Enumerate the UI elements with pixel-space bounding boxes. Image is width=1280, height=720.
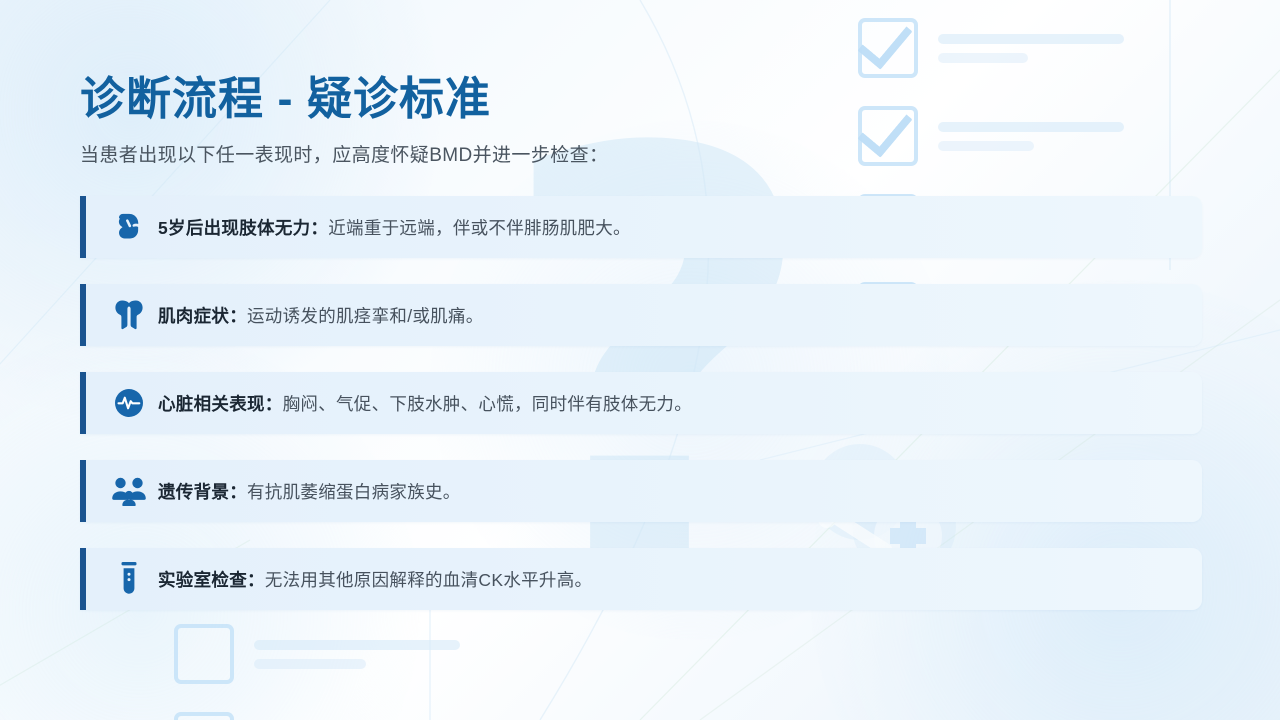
criterion-text: 遗传背景：有抗肌萎缩蛋白病家族史。 [158, 479, 461, 504]
criterion-text: 实验室检查：无法用其他原因解释的血清CK水平升高。 [158, 567, 592, 592]
checkbox-checked-icon [858, 18, 918, 78]
slide-canvas: ? [0, 0, 1280, 720]
checklist-watermark-row [858, 106, 1124, 166]
criterion-detail: 近端重于远端，伴或不伴腓肠肌肥大。 [328, 218, 631, 238]
checklist-text-lines [254, 640, 460, 669]
criterion-text: 心脏相关表现：胸闷、气促、下肢水肿、心慌，同时伴有肢体无力。 [158, 391, 692, 416]
checklist-line [938, 34, 1124, 44]
checklist-line [938, 122, 1124, 132]
criterion-detail: 有抗肌萎缩蛋白病家族史。 [247, 482, 461, 502]
page-subtitle: 当患者出现以下任一表现时，应高度怀疑BMD并进一步检查： [80, 140, 608, 167]
criterion-card-muscle-symptoms[interactable]: 肌肉症状：运动诱发的肌痉挛和/或肌痛。 [80, 284, 1202, 346]
heart-pulse-icon [106, 387, 152, 419]
checklist-line [254, 659, 366, 669]
criteria-list: 5岁后出现肢体无力：近端重于远端，伴或不伴腓肠肌肥大。 肌肉症状：运动诱发的肌痉… [80, 196, 1202, 636]
checklist-text-lines [938, 122, 1124, 151]
checkbox-checked-icon [858, 106, 918, 166]
criterion-label: 遗传背景： [158, 482, 247, 502]
muscle-fiber-icon [106, 298, 152, 332]
checklist-line [938, 141, 1034, 151]
flexed-bicep-icon [106, 210, 152, 244]
family-group-icon [106, 476, 152, 506]
checklist-text-lines [938, 34, 1124, 63]
criterion-card-cardiac[interactable]: 心脏相关表现：胸闷、气促、下肢水肿、心慌，同时伴有肢体无力。 [80, 372, 1202, 434]
criterion-card-lab-test[interactable]: 实验室检查：无法用其他原因解释的血清CK水平升高。 [80, 548, 1202, 610]
criterion-label: 心脏相关表现： [158, 394, 283, 414]
criterion-detail: 胸闷、气促、下肢水肿、心慌，同时伴有肢体无力。 [283, 394, 692, 414]
checklist-watermark-bottom-left [174, 624, 460, 720]
criterion-detail: 无法用其他原因解释的血清CK水平升高。 [265, 570, 593, 590]
criterion-card-limb-weakness[interactable]: 5岁后出现肢体无力：近端重于远端，伴或不伴腓肠肌肥大。 [80, 196, 1202, 258]
checklist-watermark-row [174, 712, 460, 720]
criterion-text: 5岁后出现肢体无力：近端重于远端，伴或不伴腓肠肌肥大。 [158, 215, 631, 240]
checklist-line [254, 640, 460, 650]
test-tube-icon [106, 561, 152, 597]
criterion-label: 实验室检查： [158, 570, 265, 590]
criterion-label: 5岁后出现肢体无力： [158, 218, 328, 238]
checklist-line [938, 53, 1028, 63]
checklist-watermark-row [858, 18, 1124, 78]
checkbox-unchecked-icon [174, 712, 234, 720]
criterion-detail: 运动诱发的肌痉挛和/或肌痛。 [247, 306, 484, 326]
criterion-card-family-history[interactable]: 遗传背景：有抗肌萎缩蛋白病家族史。 [80, 460, 1202, 522]
criterion-text: 肌肉症状：运动诱发的肌痉挛和/或肌痛。 [158, 303, 484, 328]
criterion-label: 肌肉症状： [158, 306, 247, 326]
page-title: 诊断流程 - 疑诊标准 [80, 62, 491, 127]
